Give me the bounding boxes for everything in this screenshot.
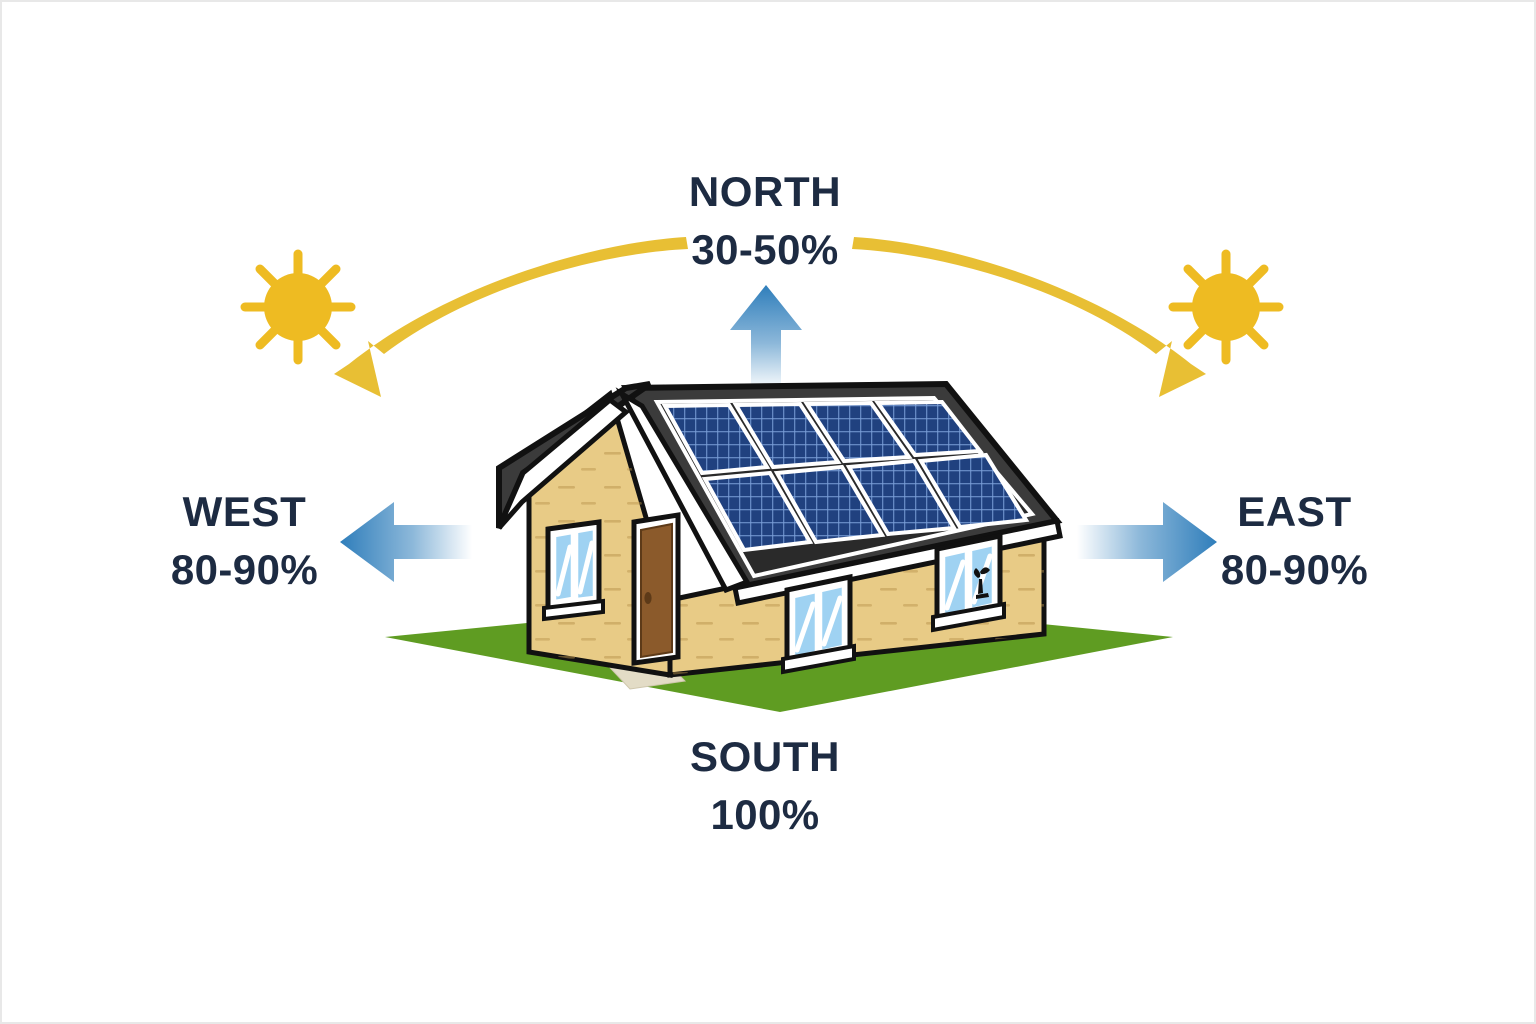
direction-name-east: EAST (1157, 487, 1432, 537)
sun-icon (245, 254, 351, 360)
direction-value-south: 100% (570, 790, 960, 840)
direction-label-east: EAST 80-90% (1157, 487, 1432, 594)
door-icon (634, 515, 678, 663)
sun-icon (1173, 254, 1279, 360)
direction-name-west: WEST (107, 487, 382, 537)
direction-value-north: 30-50% (570, 225, 960, 275)
direction-value-east: 80-90% (1157, 545, 1432, 595)
direction-name-north: NORTH (570, 167, 960, 217)
window-icon (933, 536, 1004, 630)
window-icon (783, 577, 854, 672)
direction-label-west: WEST 80-90% (107, 487, 382, 594)
direction-label-south: SOUTH 100% (570, 732, 960, 839)
arrow-up-icon (730, 285, 802, 391)
direction-name-south: SOUTH (570, 732, 960, 782)
window-icon (544, 522, 603, 619)
direction-label-north: NORTH 30-50% (570, 167, 960, 274)
direction-value-west: 80-90% (107, 545, 382, 595)
house-with-solar-panels-icon (385, 384, 1173, 712)
solar-orientation-diagram: NORTH 30-50% EAST 80-90% SOUTH 100% WEST… (0, 0, 1536, 1024)
